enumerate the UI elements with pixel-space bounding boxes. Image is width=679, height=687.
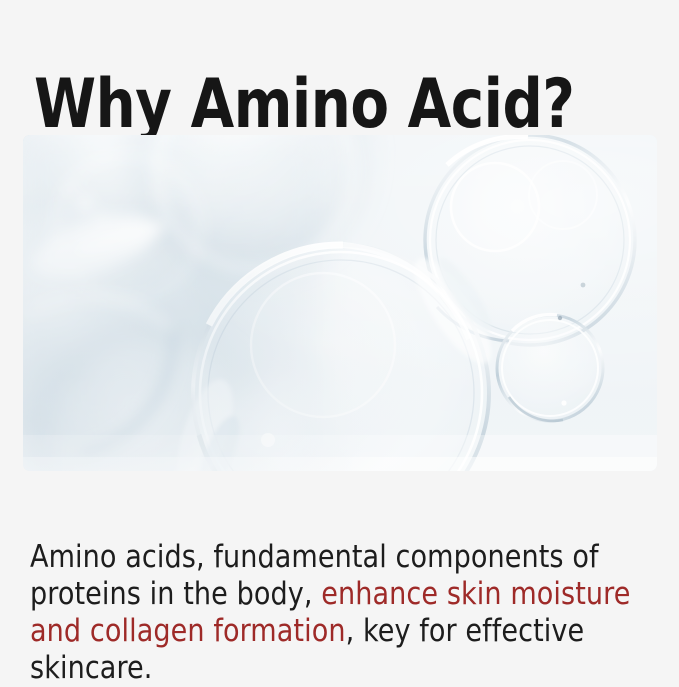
- body-paragraph: Amino acids, fundamental components of p…: [30, 539, 631, 687]
- bubbles-illustration: [23, 135, 657, 471]
- page-title: Why Amino Acid?: [34, 68, 575, 142]
- info-card: Why Amino Acid?: [0, 0, 679, 679]
- hero-image: [23, 135, 657, 471]
- bubble-lower-right: [497, 315, 603, 421]
